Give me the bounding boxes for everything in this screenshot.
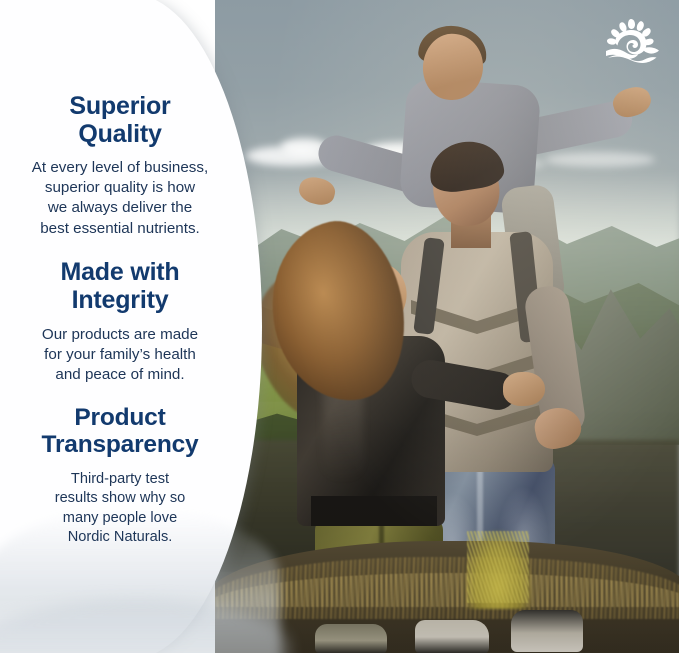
- value-prop-body: Our products are made for your family’s …: [8, 325, 232, 386]
- father-right-shoe: [511, 610, 583, 652]
- mother-shoe: [315, 624, 387, 653]
- value-prop-heading: Product Transparency: [8, 404, 232, 459]
- value-prop-body: Third-party test results show why so man…: [8, 470, 232, 548]
- cloud-icon: [545, 152, 655, 167]
- value-prop-heading: Made with Integrity: [8, 258, 232, 314]
- value-prop-body: At every level of business, superior qua…: [8, 158, 232, 239]
- sun-wave-logo-icon: [603, 18, 661, 66]
- value-prop-product-transparency: Product Transparency Third-party test re…: [8, 404, 232, 548]
- yellow-shrub-sprigs: [467, 531, 529, 603]
- mother-hand: [503, 372, 545, 406]
- family-lifestyle-photo: [215, 0, 679, 653]
- value-prop-made-with-integrity: Made with Integrity Our products are mad…: [8, 258, 232, 386]
- promotional-banner: Superior Quality At every level of busin…: [0, 0, 679, 653]
- mother-waistband: [311, 496, 437, 526]
- value-prop-heading: Superior Quality: [8, 92, 232, 148]
- value-propositions: Superior Quality At every level of busin…: [0, 0, 248, 653]
- value-prop-superior-quality: Superior Quality At every level of busin…: [8, 92, 232, 239]
- father-left-shoe: [415, 620, 489, 653]
